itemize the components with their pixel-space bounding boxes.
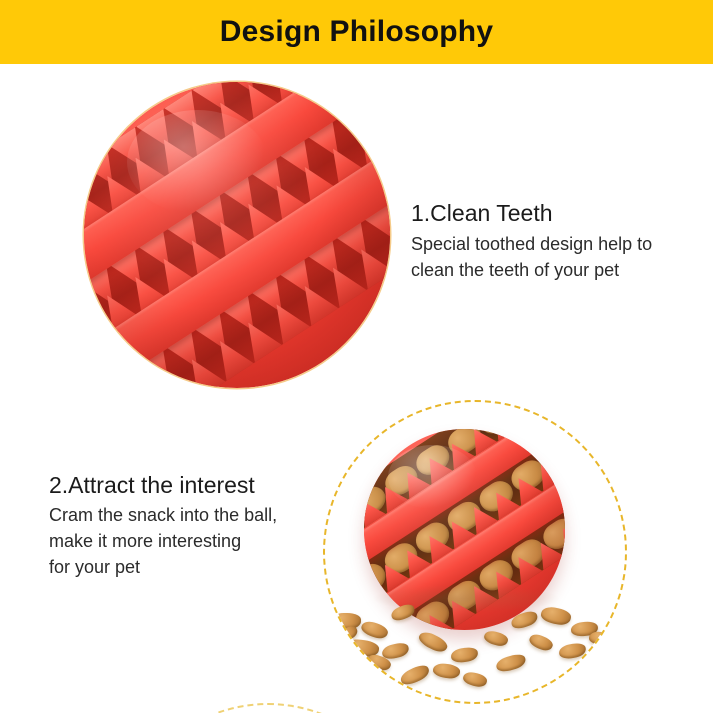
feature-1-body-line: Special toothed design help to [411,232,707,258]
feature-2-text: 2.Attract the interest Cram the snack in… [49,472,339,580]
feature-1-body-line: clean the teeth of your pet [411,258,707,284]
feature-2-body-line: make it more interesting [49,529,339,555]
page-title: Design Philosophy [220,17,493,47]
feature-2-heading: 2.Attract the interest [49,472,339,498]
feature-2-dashed-ring [323,400,627,704]
feature-1-body: Special toothed design help to clean the… [411,232,707,283]
page-header-banner: Design Philosophy [0,0,713,64]
feature-1-heading: 1.Clean Teeth [411,200,707,226]
decorative-bottom-dashed-arc [118,703,418,713]
feature-2-body-line: for your pet [49,555,339,581]
product-feature-page: Design Philosophy [0,0,713,713]
feature-1-image [84,82,390,388]
feature-2-body-line: Cram the snack into the ball, [49,503,339,529]
feature-2-body: Cram the snack into the ball, make it mo… [49,503,339,580]
feature-2-image [323,400,627,704]
feature-1-text: 1.Clean Teeth Special toothed design hel… [411,200,707,284]
